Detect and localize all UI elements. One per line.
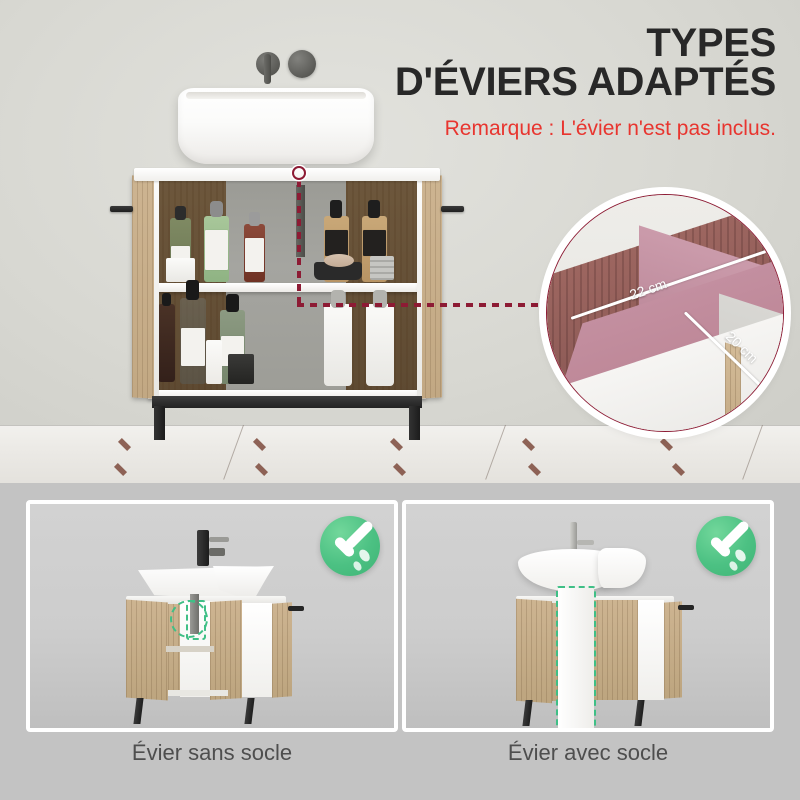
comparison-panel-sans-socle[interactable] bbox=[26, 500, 398, 732]
bottle-label bbox=[245, 238, 264, 272]
mini-pedestal-bowl-right bbox=[598, 548, 646, 588]
toiletry-tube bbox=[206, 340, 222, 384]
mini-bottom-shelf bbox=[168, 690, 228, 696]
cabinet-top-surface bbox=[134, 168, 440, 181]
mini-faucet-body bbox=[197, 530, 209, 566]
stacked-tins bbox=[370, 256, 394, 280]
compatibility-highlight-pedestal bbox=[556, 586, 596, 730]
cabinet-leg-right bbox=[409, 406, 420, 440]
cabinet-base-frame bbox=[152, 396, 422, 408]
dimension-callout: 22 cm 20 cm bbox=[546, 194, 784, 432]
status-badge-check bbox=[320, 516, 380, 576]
mini-door-right bbox=[210, 600, 242, 700]
toiletry-jar bbox=[228, 354, 254, 384]
cabinet-door-edge-left bbox=[154, 178, 159, 396]
headline-line-2: D'ÉVIERS ADAPTÉS bbox=[366, 63, 776, 102]
large-dispenser bbox=[366, 304, 394, 386]
faucet-spout bbox=[264, 54, 271, 84]
comparison-section: Évier sans socle Évier avec socle bbox=[0, 483, 800, 800]
headline-block: TYPES D'ÉVIERS ADAPTÉS Remarque : L'évie… bbox=[366, 24, 776, 142]
toiletry-jar bbox=[166, 258, 195, 282]
headline-line-1: TYPES bbox=[366, 24, 776, 63]
badge-sparkle-icon bbox=[728, 560, 739, 572]
mini-side-panel bbox=[242, 603, 272, 697]
cabinet-handle-left[interactable] bbox=[110, 206, 133, 212]
mini-door-left bbox=[516, 599, 552, 704]
mini-leg-right bbox=[244, 698, 254, 724]
bottle-label bbox=[181, 328, 205, 366]
vanity-cabinet bbox=[128, 168, 446, 430]
check-icon bbox=[719, 519, 750, 550]
cabinet-leg-left bbox=[154, 406, 165, 440]
mini-faucet-spout bbox=[577, 540, 594, 545]
soap-bar bbox=[324, 254, 354, 267]
bottle-pump-cap bbox=[210, 201, 223, 217]
mini-leg-left bbox=[133, 698, 143, 724]
bottle-pump-cap bbox=[368, 200, 380, 218]
bottle-pump-cap bbox=[226, 294, 239, 312]
headline-note: Remarque : L'évier n'est pas inclus. bbox=[366, 116, 776, 142]
bottle-pump-cap bbox=[162, 293, 171, 306]
cabinet-door-edge-right bbox=[417, 178, 422, 396]
faucet-control-knob bbox=[288, 50, 316, 78]
vessel-sink bbox=[178, 88, 374, 164]
mini-faucet-handle bbox=[209, 548, 225, 556]
badge-sparkle-icon bbox=[352, 560, 363, 572]
check-icon bbox=[343, 519, 374, 550]
bottle-label bbox=[205, 230, 228, 270]
bottle-label bbox=[363, 230, 386, 256]
mini-door-right-outer bbox=[272, 602, 292, 697]
mini-door-right bbox=[664, 601, 682, 698]
hero-scene: TYPES D'ÉVIERS ADAPTÉS Remarque : L'évie… bbox=[0, 0, 800, 483]
mini-leg-left bbox=[522, 700, 532, 726]
compatibility-highlight-drain bbox=[186, 600, 206, 640]
bottle-pump-cap bbox=[330, 200, 342, 218]
mini-cabinet-back bbox=[592, 600, 638, 700]
caption-sans-socle: Évier sans socle bbox=[26, 740, 398, 766]
cabinet-door-left[interactable] bbox=[132, 175, 154, 398]
large-dispenser bbox=[324, 304, 352, 386]
mini-inner-shelf bbox=[166, 646, 214, 652]
mini-door-left bbox=[126, 600, 168, 701]
badge-sparkle-icon bbox=[357, 548, 372, 564]
leader-line-vertical bbox=[297, 180, 301, 306]
comparison-panel-avec-socle[interactable] bbox=[402, 500, 774, 732]
mini-faucet-spout bbox=[209, 537, 229, 542]
bottle-label bbox=[325, 230, 348, 256]
bottle-pump-cap bbox=[175, 206, 186, 220]
mini-leg-right bbox=[634, 700, 644, 726]
leader-line-horizontal bbox=[297, 303, 549, 307]
cabinet-handle-right[interactable] bbox=[441, 206, 464, 212]
toiletry-bottle bbox=[158, 304, 175, 382]
bottle-cap bbox=[249, 212, 260, 226]
mini-handle-right bbox=[678, 605, 694, 610]
mini-cabinet-body bbox=[638, 600, 664, 700]
bottle-pump-cap bbox=[186, 280, 199, 300]
badge-sparkle-icon bbox=[733, 548, 748, 564]
caption-avec-socle: Évier avec socle bbox=[402, 740, 774, 766]
mini-handle-right bbox=[288, 606, 304, 611]
status-badge-check bbox=[696, 516, 756, 576]
cabinet-door-right[interactable] bbox=[420, 175, 442, 398]
leader-origin-marker bbox=[292, 166, 306, 180]
